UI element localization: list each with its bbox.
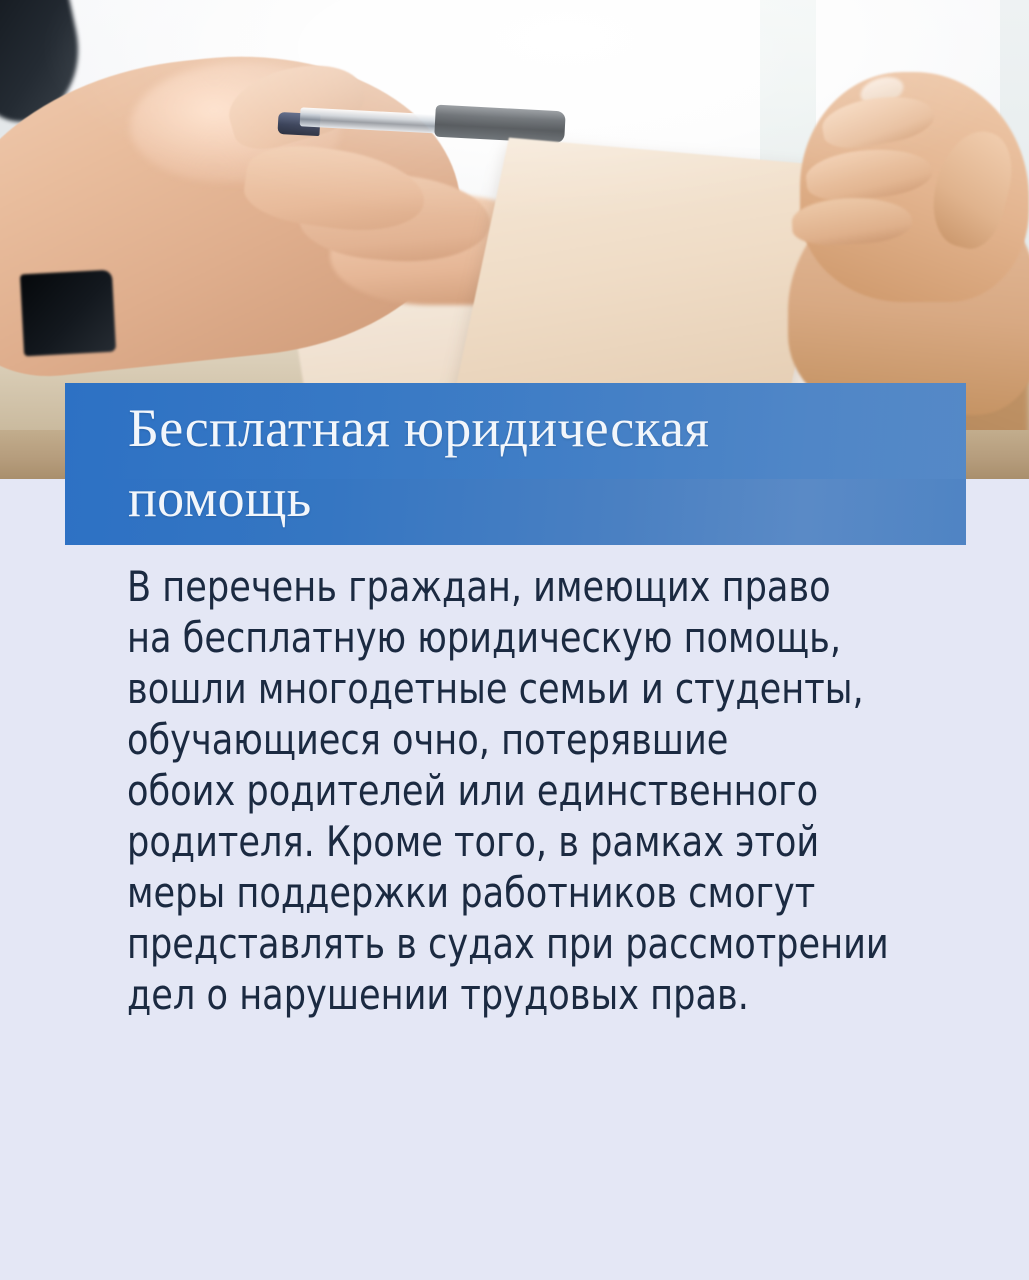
- pen-cap: [434, 105, 565, 144]
- infographic-card: Бесплатная юридическая помощь В перечень…: [0, 0, 1029, 1280]
- title-banner: Бесплатная юридическая помощь: [65, 383, 966, 545]
- page-title: Бесплатная юридическая помощь: [128, 393, 966, 533]
- suit-cuff: [20, 270, 116, 357]
- body-paragraph: В перечень граждан, имеющих право на бес…: [127, 561, 899, 1020]
